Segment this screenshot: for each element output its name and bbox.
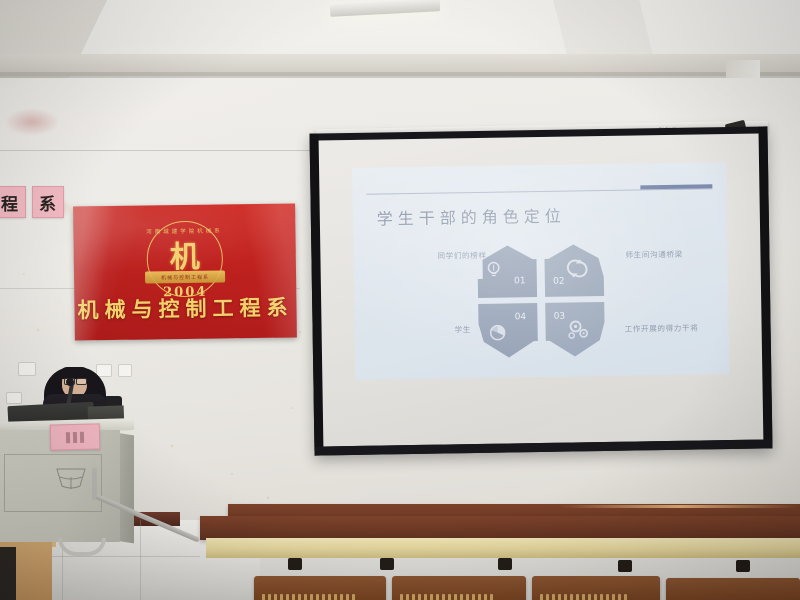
microphone-head-icon xyxy=(66,378,74,386)
desk-bracket xyxy=(736,560,750,572)
desk-bracket xyxy=(618,560,632,572)
switch-plate xyxy=(18,362,36,376)
wall-seam xyxy=(0,150,320,151)
wall-stain xyxy=(4,108,60,136)
quadrant-label-02: 师生间沟通桥梁 xyxy=(625,249,683,261)
podium-sign xyxy=(50,423,101,450)
side-table-shadow xyxy=(0,547,16,600)
chair-slats xyxy=(400,594,493,600)
emblem-center-glyph: 机 xyxy=(170,243,200,273)
lecture-chair xyxy=(666,578,800,600)
star-shape: 01 02 03 04 xyxy=(474,230,608,372)
floor-tile-seam xyxy=(140,520,141,600)
slide-title: 学生干部的角色定位 xyxy=(377,203,566,230)
banner-department-name: 机械与控制工程系 xyxy=(74,291,296,324)
slide-quadrant-diagram: 01 02 03 04 xyxy=(474,230,608,372)
wall-card-1-label: 程 xyxy=(1,190,19,215)
emblem-arc-text: 河南城建学院机械系 xyxy=(138,226,230,235)
desk-front-edge xyxy=(206,538,800,558)
desk-bracket xyxy=(380,558,394,570)
outlet-plate xyxy=(6,392,22,404)
slide-divider-rule xyxy=(366,188,712,194)
quadrant-label-04: 学生 xyxy=(455,324,472,335)
emblem-ribbon: 机械与控制工程系 xyxy=(145,270,225,283)
eyeglasses-icon xyxy=(76,378,87,385)
chair-slats xyxy=(262,594,355,600)
svg-text:04: 04 xyxy=(515,312,527,322)
podium-emblem-icon xyxy=(54,466,88,490)
department-emblem-icon: 河南城建学院机械系 机 机械与控制工程系 2004 xyxy=(138,218,231,303)
lecture-hall-photo: 程 系 河南城建学院机械系 机 机械与控制工程系 2004 机械与控制工程系 R… xyxy=(0,0,800,600)
screen-surface: 学生干部的角色定位 xyxy=(318,134,765,447)
chair-slats xyxy=(540,594,627,600)
outlet-plate xyxy=(118,364,132,377)
wall-card-1: 程 xyxy=(0,186,26,218)
quadrant-label-01: 同学们的榜样 xyxy=(437,250,486,262)
lecture-desk-row-front xyxy=(200,516,800,540)
desk-bracket xyxy=(498,558,512,570)
department-banner: 河南城建学院机械系 机 机械与控制工程系 2004 机械与控制工程系 xyxy=(73,203,297,340)
presentation-slide: 学生干部的角色定位 xyxy=(352,162,729,380)
desk-bracket xyxy=(288,558,302,570)
projection-screen: 学生干部的角色定位 xyxy=(309,126,772,455)
wall-card-2: 系 xyxy=(32,186,64,218)
svg-text:03: 03 xyxy=(554,312,566,322)
desk-highlight xyxy=(560,505,800,508)
quadrant-label-03: 工作开展的得力干将 xyxy=(625,323,699,335)
svg-text:01: 01 xyxy=(514,276,526,286)
svg-text:02: 02 xyxy=(553,277,565,287)
wall-card-2-label: 系 xyxy=(39,190,57,215)
